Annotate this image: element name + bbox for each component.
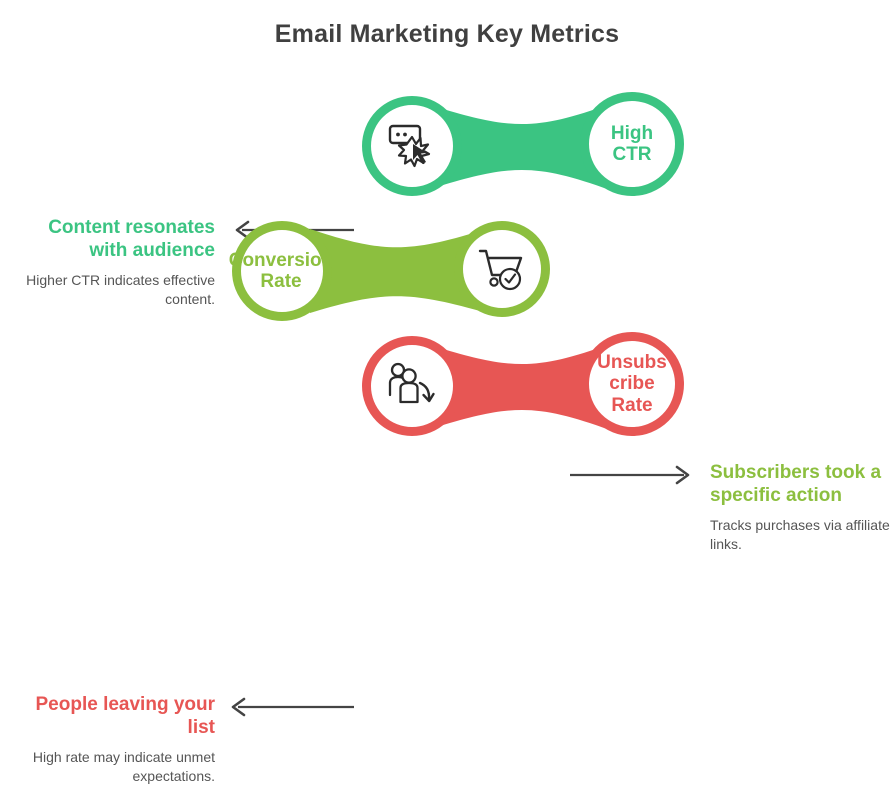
- node-label-conversion: Conversion Rate: [229, 250, 334, 293]
- dumbbell-ctr: High CTR: [362, 82, 688, 212]
- node-label-ctr: High CTR: [611, 123, 653, 166]
- side-subtext-conversion: Tracks purchases via affiliate links.: [710, 516, 890, 554]
- people-leaving-icon: [386, 361, 438, 411]
- shopping-cart-check-icon: [477, 246, 527, 292]
- row-conversion: Subscribers took a specific action Track…: [0, 207, 894, 337]
- node-unsubscribe-label[interactable]: Unsubs cribe Rate: [580, 332, 684, 436]
- side-subtext-unsubscribe: High rate may indicate unmet expectation…: [15, 748, 215, 786]
- click-cursor-icon: [386, 120, 438, 172]
- node-conversion-icon[interactable]: [454, 221, 550, 317]
- node-conversion-label[interactable]: Conversion Rate: [232, 221, 332, 321]
- arrow-right-conversion: [566, 462, 694, 488]
- node-unsubscribe-icon[interactable]: [362, 336, 462, 436]
- side-heading-unsubscribe: People leaving your list: [15, 693, 215, 739]
- row-ctr: Content resonates with audience Higher C…: [0, 82, 894, 212]
- side-block-conversion: Subscribers took a specific action Track…: [710, 461, 890, 554]
- node-ctr-label[interactable]: High CTR: [580, 92, 684, 196]
- page-title: Email Marketing Key Metrics: [0, 20, 894, 49]
- row-unsubscribe: People leaving your list High rate may i…: [0, 322, 894, 452]
- side-block-unsubscribe: People leaving your list High rate may i…: [15, 693, 215, 786]
- dumbbell-unsubscribe: Unsubs cribe Rate: [362, 322, 688, 452]
- node-label-unsubscribe: Unsubs cribe Rate: [597, 352, 667, 416]
- side-heading-conversion: Subscribers took a specific action: [710, 461, 890, 507]
- infographic-canvas: Email Marketing Key Metrics Content reso…: [0, 0, 894, 480]
- node-ctr-icon[interactable]: [362, 96, 462, 196]
- dumbbell-conversion: Conversion Rate: [232, 207, 558, 337]
- arrow-left-unsubscribe: [228, 694, 356, 720]
